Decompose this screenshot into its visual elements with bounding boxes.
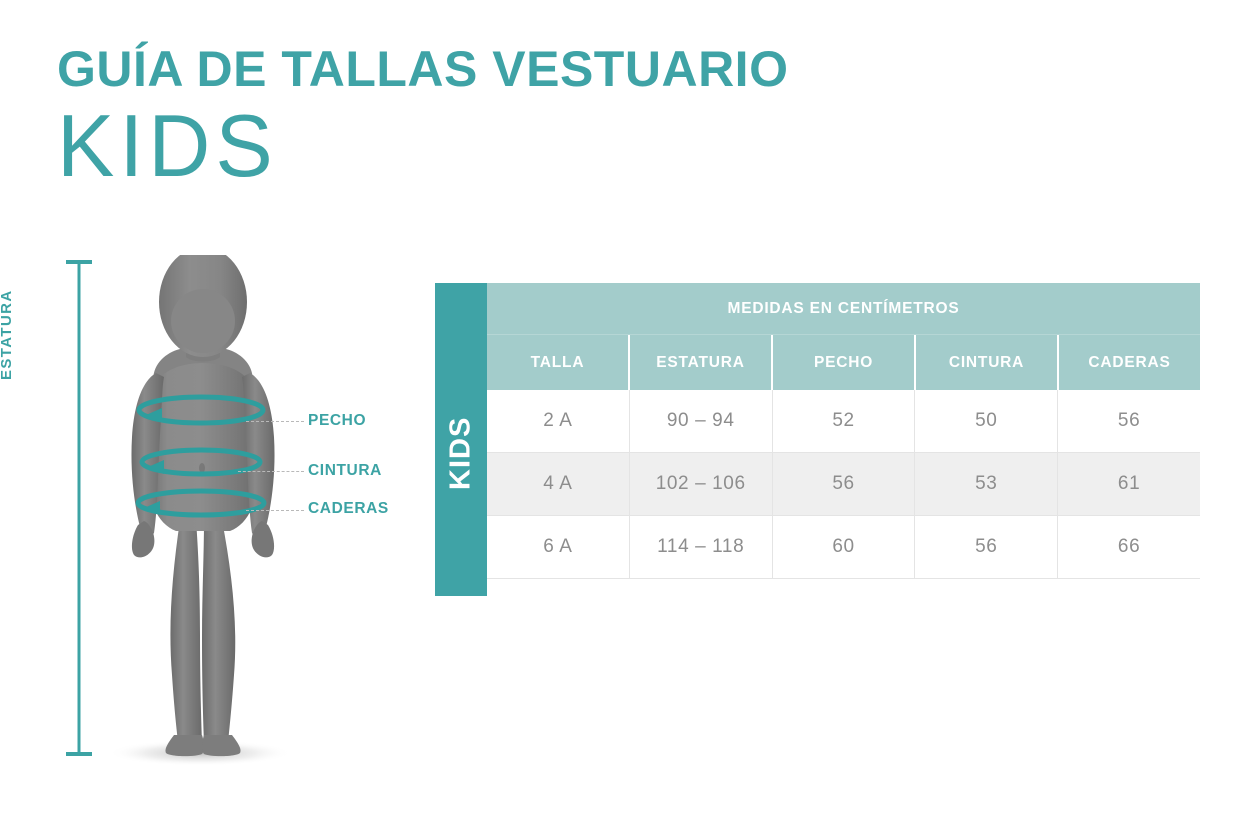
estatura-label: ESTATURA (0, 289, 15, 380)
figure-panel: ESTATURA (0, 0, 430, 833)
cell-pecho: 60 (773, 516, 916, 578)
torso (147, 351, 258, 531)
column-header-talla: TALLA (487, 335, 630, 390)
chin (171, 289, 235, 353)
cell-pecho: 52 (773, 390, 916, 452)
cintura-leader-line (238, 471, 304, 472)
column-header-caderas: CADERAS (1059, 335, 1200, 390)
cell-talla: 6 A (487, 516, 630, 578)
left-leg (170, 520, 202, 742)
caderas-leader-line (246, 510, 304, 511)
table-category-sidebar: KIDS (435, 283, 487, 596)
table-row: 4 A 102 – 106 56 53 61 (487, 453, 1200, 516)
column-header-estatura: ESTATURA (630, 335, 773, 390)
size-table: KIDS MEDIDAS EN CENTÍMETROS TALLA ESTATU… (435, 283, 1200, 596)
pecho-leader-line (246, 421, 304, 422)
cell-estatura: 114 – 118 (630, 516, 773, 578)
cell-estatura: 90 – 94 (630, 390, 773, 452)
right-foot (202, 735, 240, 756)
table-row: 2 A 90 – 94 52 50 56 (487, 390, 1200, 453)
table-group-header: MEDIDAS EN CENTÍMETROS (487, 283, 1200, 335)
cell-cintura: 50 (915, 390, 1058, 452)
cell-talla: 4 A (487, 453, 630, 515)
cell-caderas: 61 (1058, 453, 1200, 515)
column-header-pecho: PECHO (773, 335, 916, 390)
cell-talla: 2 A (487, 390, 630, 452)
cell-caderas: 66 (1058, 516, 1200, 578)
right-leg (202, 520, 235, 742)
table-row: 6 A 114 – 118 60 56 66 (487, 516, 1200, 579)
kids-sidebar-label: KIDS (445, 417, 478, 490)
child-mannequin-figure (80, 255, 320, 775)
table-column-header-row: TALLA ESTATURA PECHO CINTURA CADERAS (487, 335, 1200, 390)
table-body: MEDIDAS EN CENTÍMETROS TALLA ESTATURA PE… (487, 283, 1200, 596)
pecho-label: PECHO (308, 412, 366, 430)
cell-cintura: 56 (915, 516, 1058, 578)
caderas-label: CADERAS (308, 500, 389, 518)
cell-estatura: 102 – 106 (630, 453, 773, 515)
cell-cintura: 53 (915, 453, 1058, 515)
cell-caderas: 56 (1058, 390, 1200, 452)
column-header-cintura: CINTURA (916, 335, 1059, 390)
cintura-label: CINTURA (308, 462, 382, 480)
cell-pecho: 56 (773, 453, 916, 515)
left-foot (165, 735, 203, 756)
